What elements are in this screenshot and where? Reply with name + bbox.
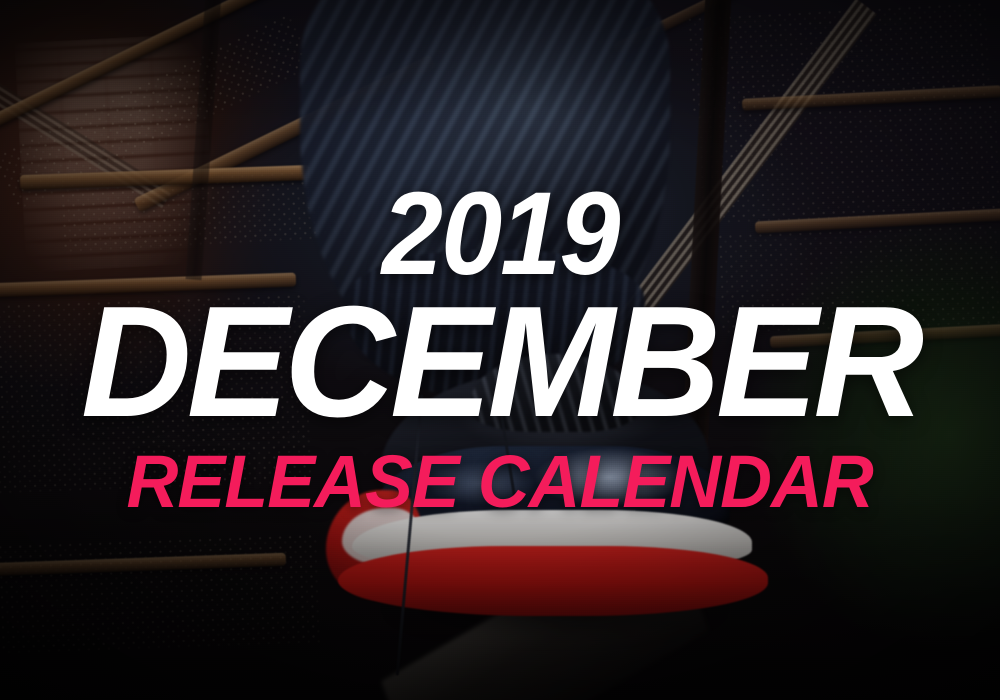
headline-overlay: 2019 DECEMBER RELEASE CALENDAR bbox=[0, 0, 1000, 700]
headline-subtitle: RELEASE CALENDAR bbox=[127, 449, 873, 516]
headline-year: 2019 bbox=[382, 184, 619, 285]
headline-month: DECEMBER bbox=[81, 298, 919, 428]
release-calendar-banner: 2019 DECEMBER RELEASE CALENDAR bbox=[0, 0, 1000, 700]
